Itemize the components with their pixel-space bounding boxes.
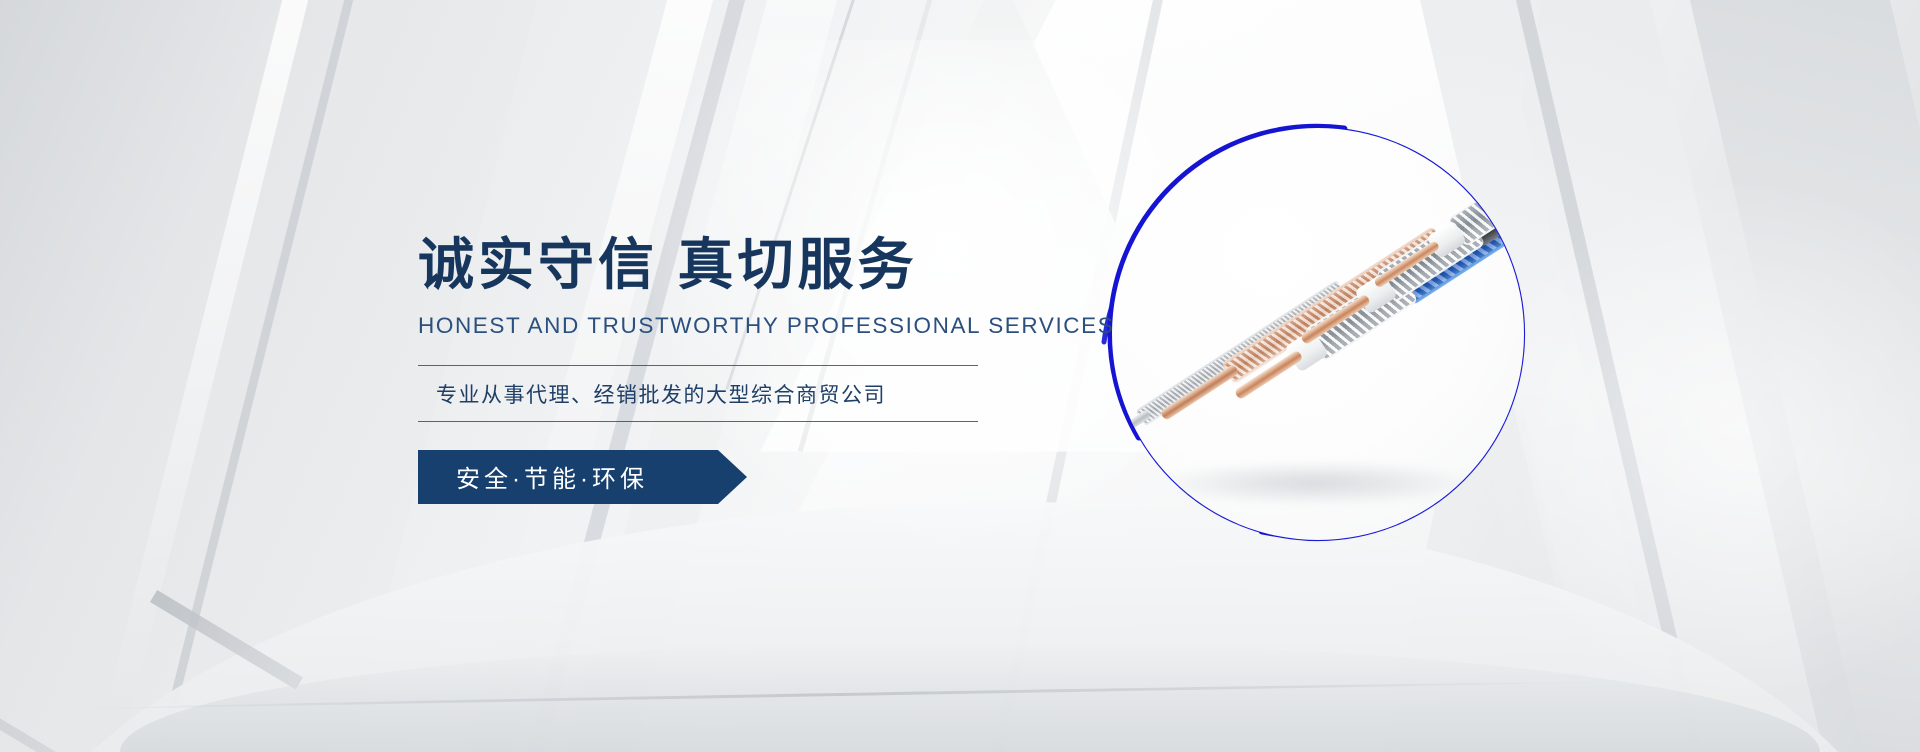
product-photo [1112, 128, 1524, 540]
bg-facet-left-edge [58, 0, 328, 752]
divider-bottom [418, 421, 978, 422]
banner-headline: 诚实守信 真切服务 [418, 236, 1078, 295]
banner-description: 专业从事代理、经销批发的大型综合商贸公司 [418, 366, 978, 421]
banner-description-wrap: 专业从事代理、经销批发的大型综合商贸公司 [418, 365, 978, 422]
feature-tag-banner[interactable]: 安全·节能·环保 [418, 450, 718, 504]
bg-facet-floor [0, 502, 1920, 752]
bg-facet-floor-line [60, 679, 1620, 709]
feature-tag-label: 安全·节能·环保 [418, 459, 648, 494]
product-medallion [1112, 128, 1524, 540]
banner-text-block: 诚实守信 真切服务 HONEST AND TRUSTWORTHY PROFESS… [418, 236, 1078, 504]
bg-facet-left-shadow [120, 0, 373, 752]
bg-facet-floor-shade [120, 642, 1820, 752]
divider-top [418, 365, 978, 366]
bg-facet-bottom-left-bar-1 [150, 590, 303, 690]
banner-subheadline: HONEST AND TRUSTWORTHY PROFESSIONAL SERV… [418, 313, 1078, 339]
hero-banner: 诚实守信 真切服务 HONEST AND TRUSTWORTHY PROFESS… [0, 0, 1920, 752]
bg-facet-right-3 [1658, 0, 1920, 752]
photo-shadow [1150, 460, 1480, 506]
bg-facet-bottom-left-bar-2 [0, 703, 232, 752]
